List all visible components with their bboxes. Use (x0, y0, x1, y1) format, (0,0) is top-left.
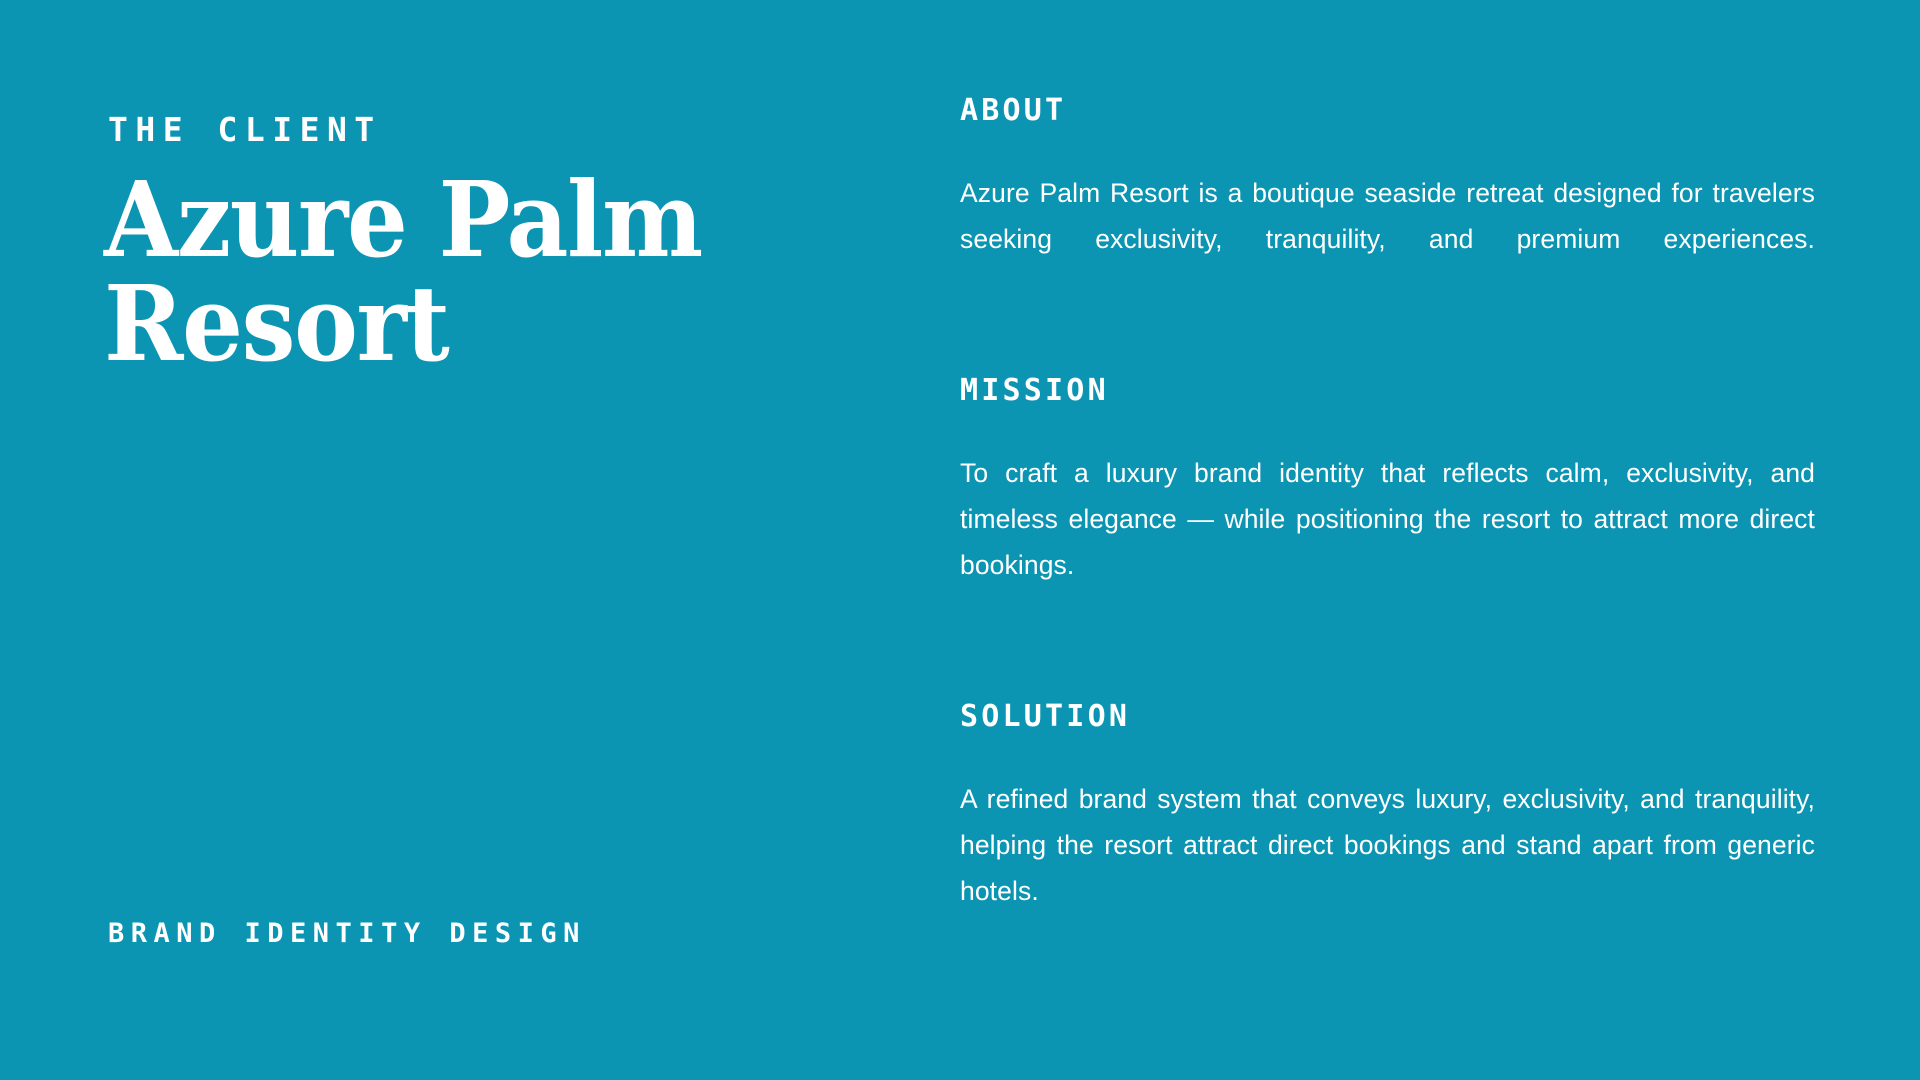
footer-label-brand-identity-design: BRAND IDENTITY DESIGN (108, 920, 586, 947)
client-name-line-1: Azure Palm (104, 168, 785, 272)
left-column: THE CLIENT Azure Palm Resort BRAND IDENT… (108, 0, 868, 1080)
eyebrow-label-the-client: THE CLIENT (108, 113, 382, 146)
section-heading-solution: SOLUTION (960, 702, 1815, 732)
section-body-mission: To craft a luxury brand identity that re… (960, 450, 1815, 634)
section-solution: SOLUTION A refined brand system that con… (960, 702, 1815, 960)
section-heading-mission: MISSION (960, 376, 1815, 406)
right-column: ABOUT Azure Palm Resort is a boutique se… (960, 96, 1815, 960)
section-heading-about: ABOUT (960, 96, 1815, 126)
client-name-line-2: Resort (104, 272, 785, 376)
case-study-slide: THE CLIENT Azure Palm Resort BRAND IDENT… (0, 0, 1920, 1080)
section-body-about: Azure Palm Resort is a boutique seaside … (960, 170, 1815, 308)
section-body-solution: A refined brand system that conveys luxu… (960, 776, 1815, 960)
section-about: ABOUT Azure Palm Resort is a boutique se… (960, 96, 1815, 308)
page-title-client-name: Azure Palm Resort (104, 168, 785, 376)
section-mission: MISSION To craft a luxury brand identity… (960, 376, 1815, 634)
